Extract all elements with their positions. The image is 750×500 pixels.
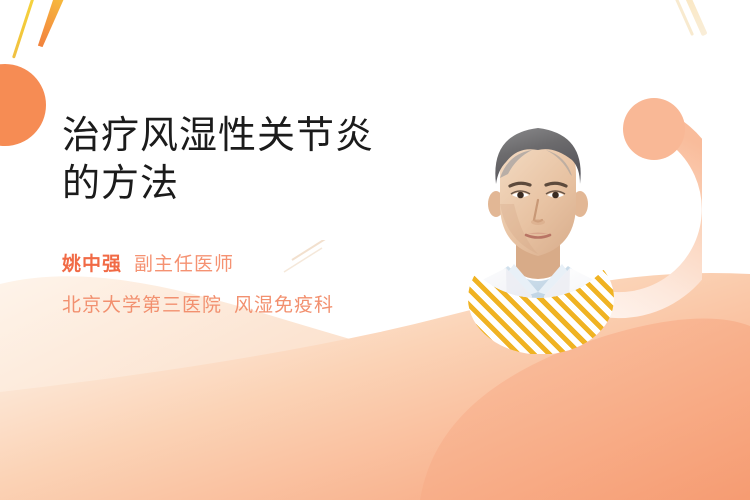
department-name: 风湿免疫科 <box>234 295 334 316</box>
hospital-name: 北京大学第三医院 <box>62 295 222 316</box>
doctor-intro-card: 治疗风湿性关节炎 的方法 姚中强副主任医师 北京大学第三医院风湿免疫科 <box>0 0 750 500</box>
doctor-byline: 姚中强副主任医师 <box>62 252 422 278</box>
portrait-cluster <box>440 92 696 392</box>
doctor-affiliation: 北京大学第三医院风湿免疫科 <box>62 293 422 319</box>
text-block: 治疗风湿性关节炎 的方法 姚中强副主任医师 北京大学第三医院风湿免疫科 <box>62 112 422 319</box>
orange-circle-icon <box>0 64 46 146</box>
doctor-name: 姚中强 <box>62 254 122 275</box>
yellow-diagonal-line-icon <box>12 0 39 59</box>
page-title: 治疗风湿性关节炎 的方法 <box>62 112 422 208</box>
doctor-portrait-icon <box>434 100 642 350</box>
avatar <box>448 118 628 298</box>
orange-diagonal-wedge-icon <box>29 0 73 50</box>
doctor-rank: 副主任医师 <box>134 254 234 275</box>
